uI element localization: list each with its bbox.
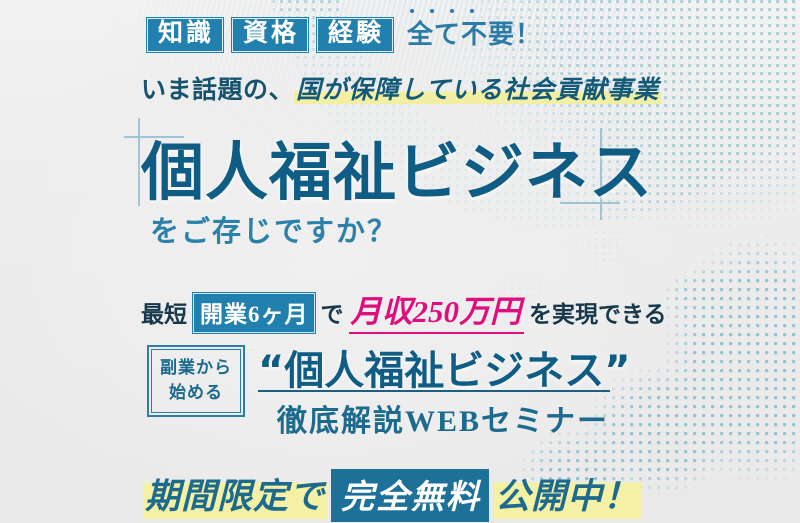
lead-plain-text: いま話題の、 — [141, 77, 294, 104]
headline-subtext: をご存じですか？ — [150, 208, 398, 250]
seminar-divider — [258, 390, 610, 392]
lead-highlight-text: 国が保障している社会貢献事業 — [294, 77, 661, 104]
keyword-row: 知識 資格 経験 全て不要！ — [146, 17, 542, 53]
keyword-box-1: 知識 — [146, 17, 224, 53]
claim-period-badge: 開業6ヶ月 — [192, 292, 316, 334]
side-business-badge-line1: 副業から — [160, 356, 232, 381]
claim-prefix: 最短 — [141, 295, 187, 329]
free-offer-prefix: 期間限定で — [143, 468, 327, 519]
emphasis-dots-icon — [410, 9, 474, 13]
side-business-badge: 副業から 始める — [147, 345, 245, 417]
keyword-tail-label: 全て不要！ — [407, 20, 542, 49]
free-offer-line: 期間限定で 完全無料 公開中！ — [143, 468, 641, 522]
claim-income-amount: 月収250万円 — [349, 286, 525, 334]
keyword-box-2: 資格 — [231, 17, 309, 53]
claim-middle: で — [321, 295, 344, 329]
keyword-tail-text: 全て不要！ — [407, 21, 542, 50]
seminar-title: “個人福祉ビジネス” — [258, 338, 631, 396]
lead-line: いま話題の、国が保障している社会貢献事業 — [141, 70, 661, 106]
seminar-subtitle: 徹底解説WEBセミナー — [277, 396, 609, 440]
free-offer-badge: 完全無料 — [331, 469, 489, 522]
side-business-badge-line2: 始める — [169, 381, 223, 406]
page-title: 個人福祉ビジネス — [141, 122, 653, 213]
keyword-box-3: 経験 — [316, 17, 394, 53]
claim-line: 最短 開業6ヶ月 で 月収250万円 を実現できる — [141, 286, 667, 334]
free-offer-suffix: 公開中！ — [493, 468, 641, 519]
hero-banner: 知識 資格 経験 全て不要！ いま話題の、国が保障している社会貢献事業 個人福祉… — [0, 0, 800, 523]
claim-suffix: を実現できる — [529, 295, 667, 329]
